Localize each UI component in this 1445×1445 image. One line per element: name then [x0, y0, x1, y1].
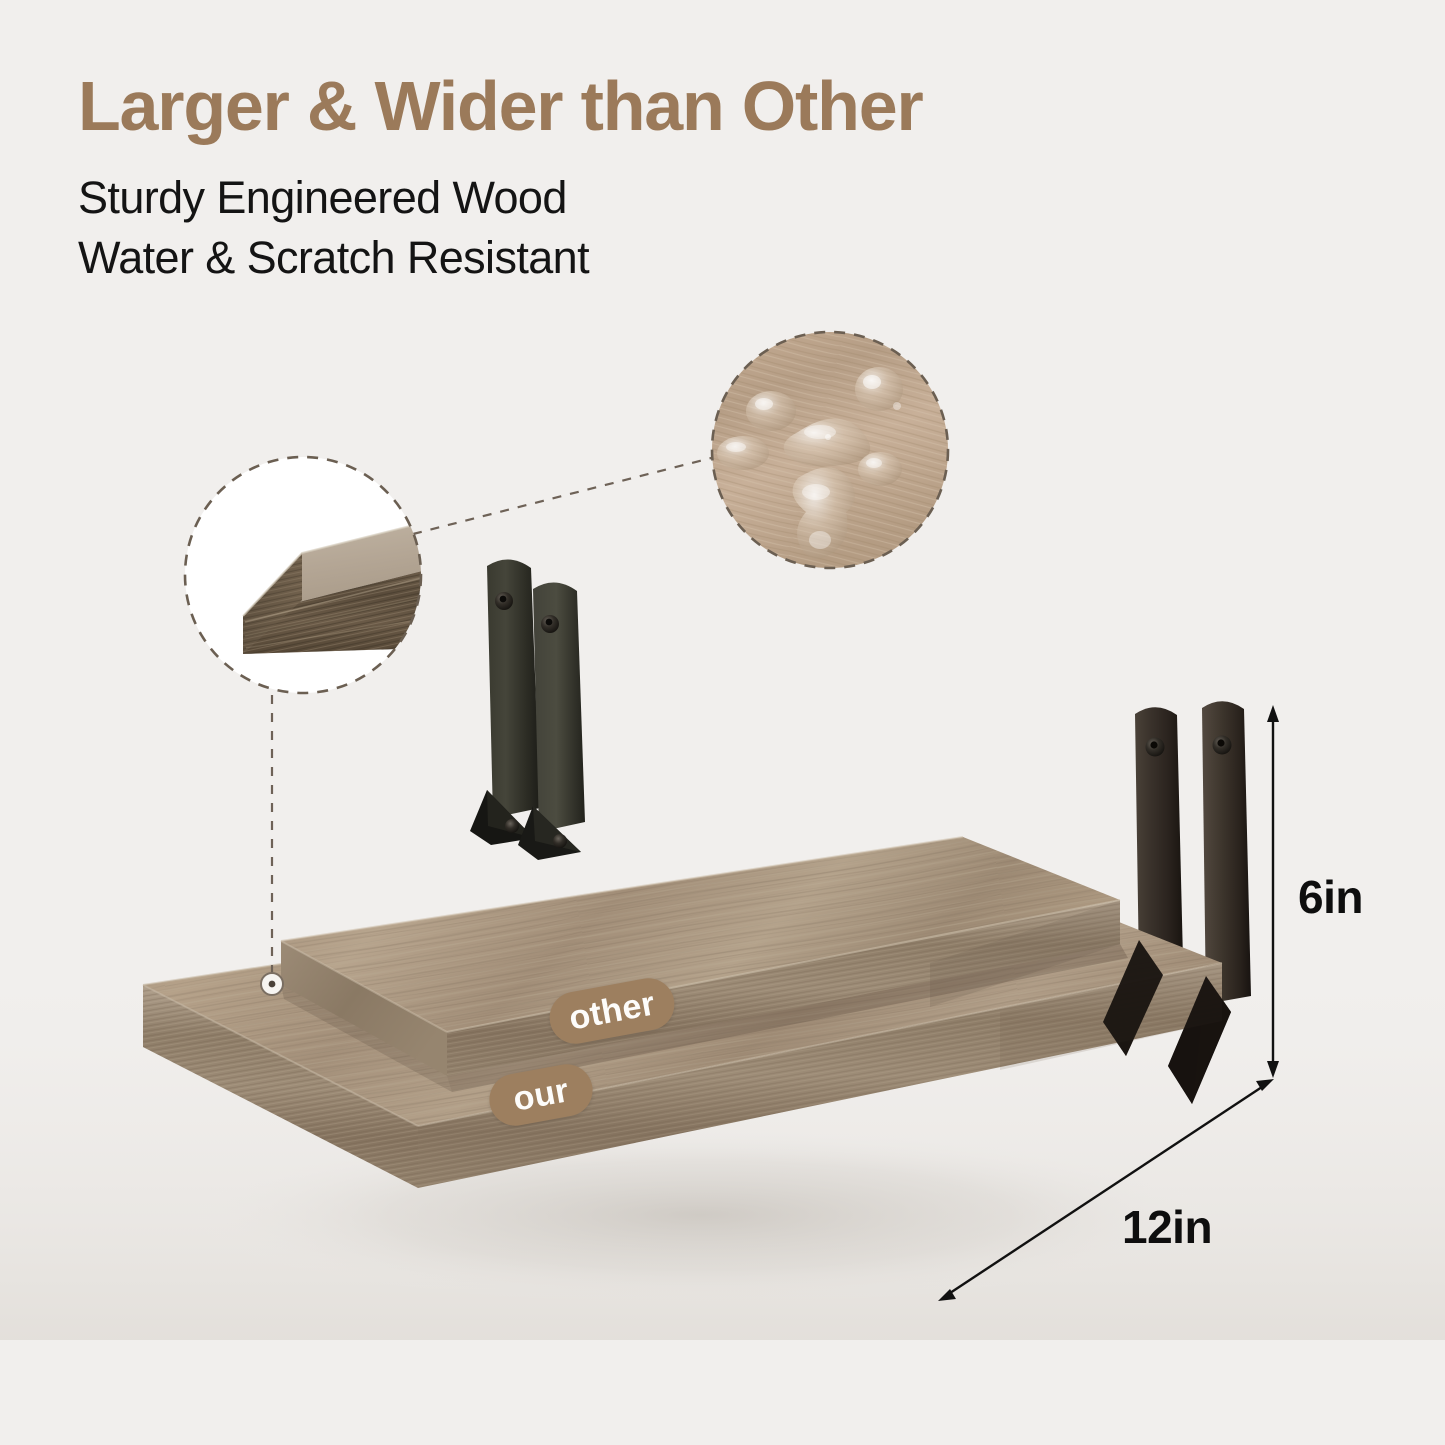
- screw-icon: [553, 834, 567, 848]
- water-droplet: [717, 436, 769, 470]
- water-droplet: [746, 391, 796, 431]
- bracket-left-group: [470, 559, 585, 860]
- dimension-label-depth: 12in: [1122, 1200, 1212, 1254]
- dimension-label-height: 6in: [1298, 870, 1363, 924]
- callout-wood-edge-circle: [185, 457, 430, 693]
- callout-marker-dot: [261, 973, 283, 995]
- product-illustration: [0, 0, 1445, 1445]
- shelf-shadow: [180, 1125, 1220, 1305]
- infographic-canvas: Larger & Wider than Other Sturdy Enginee…: [0, 0, 1445, 1445]
- callout-water-droplet-circle: [712, 332, 948, 568]
- callout-leader-diagonal: [413, 455, 723, 534]
- screw-icon: [505, 819, 519, 833]
- water-droplet: [858, 452, 902, 486]
- bracket-left-rear: [470, 559, 540, 845]
